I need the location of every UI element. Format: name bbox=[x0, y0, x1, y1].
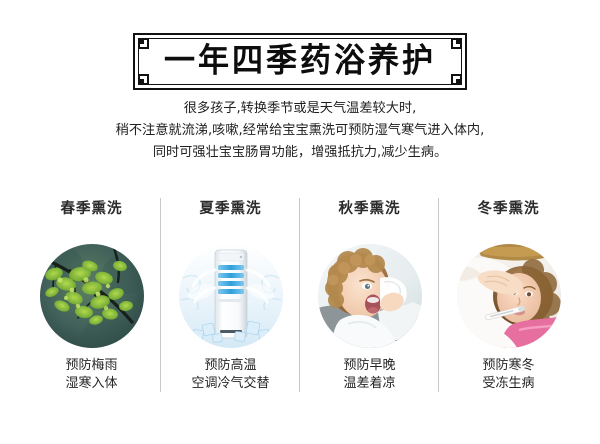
caption-line-2: 空调冷气交替 bbox=[191, 375, 269, 393]
caption-line-2: 受冻生病 bbox=[482, 375, 534, 393]
winter-sick-child-in-bed-photo bbox=[457, 244, 561, 348]
season-label-summer: 夏季熏洗 bbox=[200, 202, 262, 217]
season-label-winter: 冬季熏洗 bbox=[478, 202, 540, 217]
season-caption-spring: 预防梅雨 湿寒入体 bbox=[65, 357, 117, 393]
season-caption-summer: 预防高温 空调冷气交替 bbox=[191, 357, 269, 393]
caption-line-1: 预防早晚 bbox=[343, 357, 395, 375]
autumn-sneezing-child-photo bbox=[318, 244, 422, 348]
caption-line-2: 温差着凉 bbox=[343, 375, 395, 393]
season-label-spring: 春季熏洗 bbox=[61, 202, 123, 217]
season-column-autumn: 秋季熏洗 bbox=[300, 196, 439, 396]
season-column-spring: 春季熏洗 bbox=[22, 196, 161, 396]
spring-green-branches-photo bbox=[40, 244, 144, 348]
season-caption-winter: 预防寒冬 受冻生病 bbox=[482, 357, 534, 393]
title-banner-inner-frame: 一年四季药浴养护 bbox=[138, 38, 462, 85]
intro-line-3: 同时可强壮宝宝肠胃功能，增强抵抗力,减少生病。 bbox=[0, 142, 600, 164]
ornament-corner-top-right-icon bbox=[451, 38, 462, 49]
intro-line-2: 稍不注意就流涕,咳嗽,经常给宝宝熏洗可预防湿气寒气进入体内, bbox=[0, 120, 600, 142]
summer-air-conditioner-photo bbox=[179, 244, 283, 348]
caption-line-2: 湿寒入体 bbox=[65, 375, 117, 393]
caption-line-1: 预防高温 bbox=[191, 357, 269, 375]
intro-line-1: 很多孩子,转换季节或是天气温差较大时, bbox=[0, 98, 600, 120]
page-title: 一年四季药浴养护 bbox=[164, 45, 436, 78]
intro-paragraph: 很多孩子,转换季节或是天气温差较大时, 稍不注意就流涕,咳嗽,经常给宝宝熏洗可预… bbox=[0, 98, 600, 164]
season-label-autumn: 秋季熏洗 bbox=[339, 202, 401, 217]
title-banner: 一年四季药浴养护 bbox=[133, 33, 467, 90]
season-caption-autumn: 预防早晚 温差着凉 bbox=[343, 357, 395, 393]
ornament-corner-bottom-right-icon bbox=[451, 74, 462, 85]
season-column-summer: 夏季熏洗 bbox=[161, 196, 300, 396]
season-column-winter: 冬季熏洗 bbox=[439, 196, 578, 396]
season-columns: 春季熏洗 bbox=[22, 196, 578, 396]
caption-line-1: 预防梅雨 bbox=[65, 357, 117, 375]
caption-line-1: 预防寒冬 bbox=[482, 357, 534, 375]
ornament-corner-top-left-icon bbox=[138, 38, 149, 49]
ornament-corner-bottom-left-icon bbox=[138, 74, 149, 85]
